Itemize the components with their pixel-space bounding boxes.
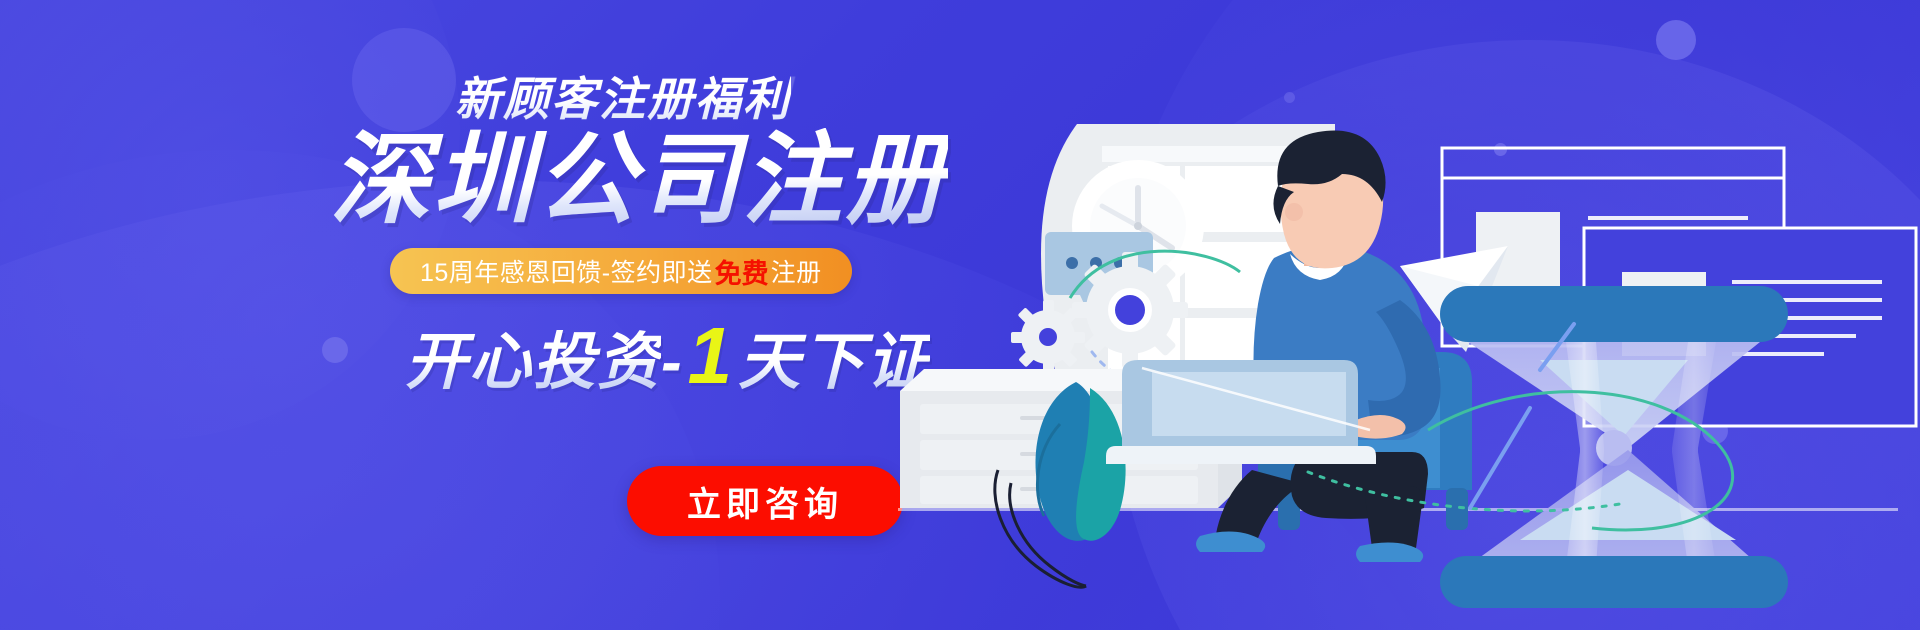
- eyebrow-text: 新顾客注册福利: [455, 63, 791, 129]
- headline-group: 新顾客注册福利 深圳公司注册 15周年感恩回馈-签约即送免费注册 开心投资-1天…: [0, 0, 1010, 630]
- hero-illustration: [880, 0, 1920, 630]
- subheadline: 开心投资-1天下证: [405, 310, 930, 402]
- subheadline-number: 1: [684, 310, 739, 402]
- promo-banner: 新顾客注册福利 深圳公司注册 15周年感恩回馈-签约即送免费注册 开心投资-1天…: [0, 0, 1920, 630]
- subheadline-dash: -: [661, 327, 684, 398]
- consult-now-button[interactable]: 立即咨询: [627, 466, 903, 536]
- consult-now-button-label: 立即咨询: [687, 477, 843, 526]
- laptop-icon: [1106, 360, 1376, 464]
- promo-badge: 15周年感恩回馈-签约即送免费注册: [390, 248, 852, 294]
- promo-badge-prefix: 15周年感恩回馈-签约即送: [420, 253, 713, 289]
- promo-badge-suffix: 注册: [771, 253, 822, 289]
- page-title: 深圳公司注册: [330, 128, 948, 233]
- subheadline-prefix: 开心投资: [405, 311, 661, 401]
- promo-badge-highlight: 免费: [713, 252, 771, 291]
